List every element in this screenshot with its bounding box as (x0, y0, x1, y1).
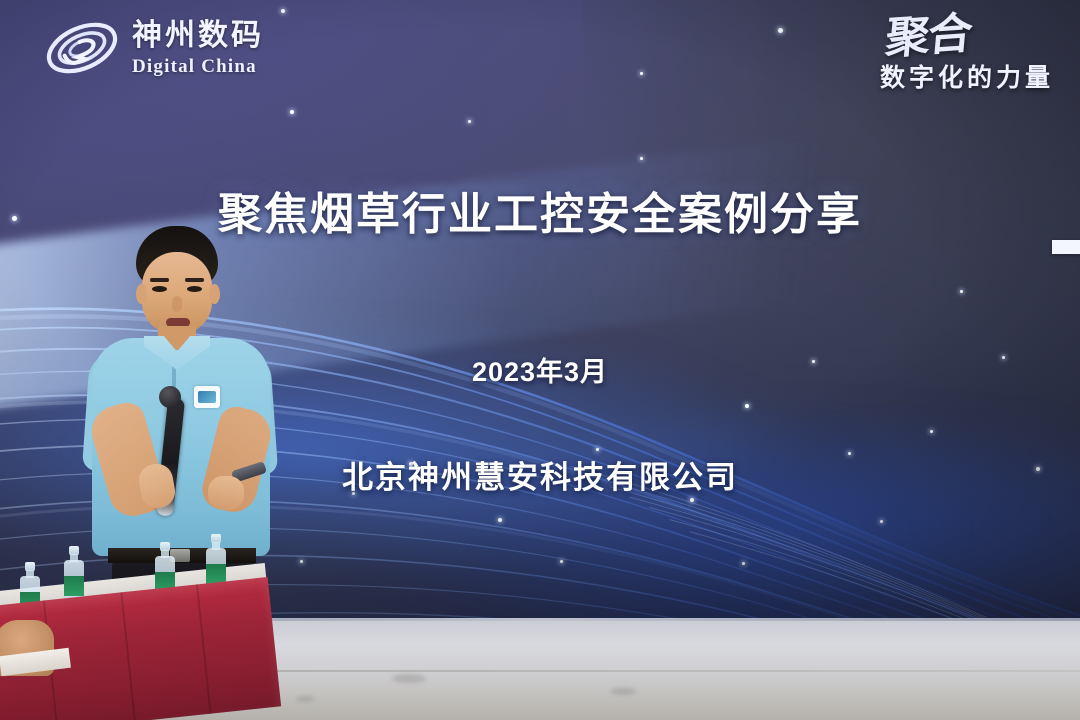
event-theme-brand: 聚合 数字化的力量 (880, 18, 1054, 94)
screen-edge-graphic (1052, 240, 1080, 254)
presenter-eye-left (152, 286, 167, 292)
floor-scuff (392, 674, 426, 683)
event-theme-subtitle: 数字化的力量 (880, 58, 1054, 94)
event-calligraphy-title: 聚合 (878, 15, 972, 59)
digital-china-wordmark: 神州数码 Digital China (132, 21, 264, 76)
presenter-ear-left (136, 284, 147, 304)
presenter-hand-right (208, 476, 244, 510)
presenter-chest-logo (194, 386, 220, 408)
presenter-nose (172, 296, 182, 312)
floor-scuff (296, 696, 314, 702)
skirt-fold (120, 592, 136, 720)
presenter-eyebrow-right (185, 278, 204, 282)
digital-china-swirl-logo (44, 16, 120, 80)
presenter-eye-right (187, 286, 202, 292)
presenter-eyebrow-left (150, 278, 169, 282)
skirt-fold (196, 584, 212, 713)
floor-scuff (610, 688, 636, 695)
presenter-ear-right (209, 284, 220, 304)
brand-english-name: Digital China (132, 57, 264, 76)
swirl-icon (44, 16, 120, 80)
digital-china-brand: 神州数码 Digital China (44, 16, 264, 80)
brand-chinese-name: 神州数码 (132, 21, 264, 51)
screenshot-root: 神州数码 Digital China 聚合 数字化的力量 聚焦烟草行业工控安全案… (0, 0, 1080, 720)
bottle-label (64, 576, 84, 596)
